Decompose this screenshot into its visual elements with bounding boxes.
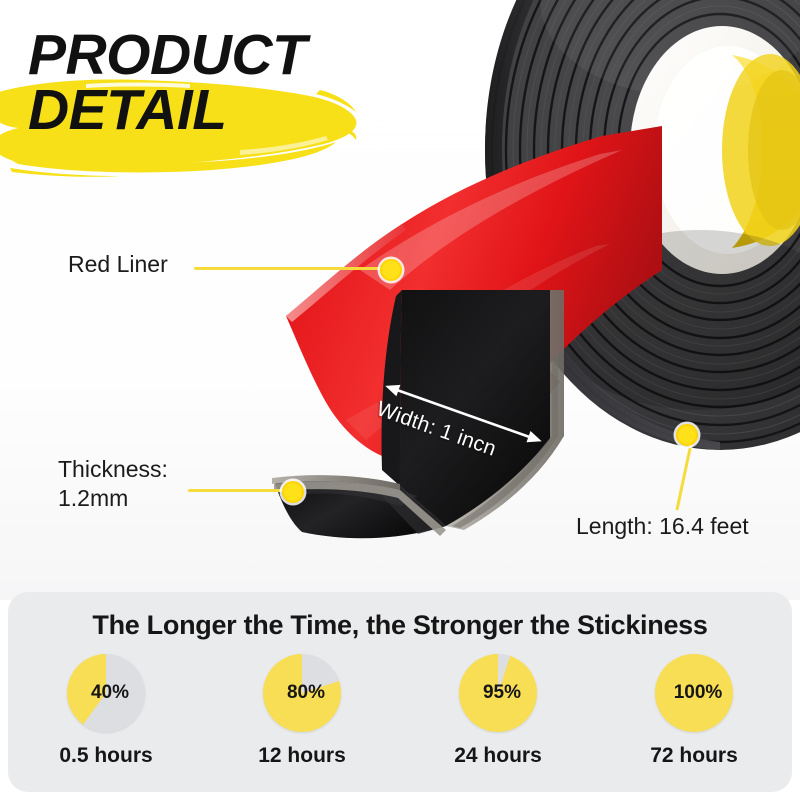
callout-thickness: Thickness: 1.2mm [58,455,168,512]
pie-caption: 72 hours [650,744,738,768]
pie-chart: 40% [67,654,145,732]
pie-chart: 100% [655,654,733,732]
pie-chart: 80% [263,654,341,732]
red-liner-marker-dot [380,259,402,281]
callout-length: Length: 16.4 feet [576,512,749,541]
infographic-root: Width: 1 incn Red Liner Thickness: 1.2mm… [0,0,800,800]
pie-caption: 24 hours [454,744,542,768]
pie-caption: 0.5 hours [59,744,152,768]
stickiness-panel: The Longer the Time, the Stronger the St… [8,592,792,792]
pie-chart: 95% [459,654,537,732]
pie-cell: 80%12 hours [217,654,387,768]
pie-value-label: 40% [67,654,145,732]
page-title: PRODUCT DETAIL [28,28,448,139]
callout-red-liner: Red Liner [68,250,168,279]
thickness-marker-dot [282,481,304,503]
red-liner-leader-line [194,267,384,270]
length-marker-dot [676,424,698,446]
pie-value-label: 80% [263,654,341,732]
pie-chart-row: 40%0.5 hours80%12 hours95%24 hours100%72… [8,654,792,768]
pie-cell: 95%24 hours [413,654,583,768]
thickness-leader-line [188,489,288,492]
pie-caption: 12 hours [258,744,346,768]
pie-value-label: 100% [655,654,733,732]
pie-value-label: 95% [459,654,537,732]
pie-cell: 100%72 hours [609,654,779,768]
pie-cell: 40%0.5 hours [21,654,191,768]
panel-title: The Longer the Time, the Stronger the St… [8,610,792,641]
header-title-block: PRODUCT DETAIL [0,10,470,175]
